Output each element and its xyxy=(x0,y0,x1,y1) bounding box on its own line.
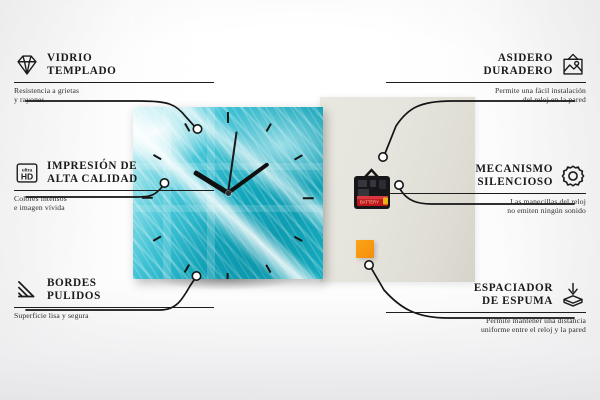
feature-title-line2: SILENCIOSO xyxy=(476,176,554,189)
feature-desc-line2: del reloj en la pared xyxy=(386,95,586,105)
leader-line-asidero xyxy=(384,101,574,156)
feature-desc-line2: e imagen vívida xyxy=(14,203,214,213)
feature-title-line1: MECANISMO xyxy=(476,163,554,176)
feature-rule xyxy=(386,312,586,313)
feature-desc-line1: Permite mantener una distancia xyxy=(386,316,586,326)
feature-desc-line1: Permite una fácil instalación xyxy=(386,86,586,96)
leader-node-espaciador xyxy=(365,261,373,269)
feature-title-line2: PULIDOS xyxy=(47,290,101,303)
feature-rule xyxy=(14,82,214,83)
feature-title-line2: ALTA CALIDAD xyxy=(47,173,138,186)
feature-title-line2: DE ESPUMA xyxy=(474,295,553,308)
feature-bordes-pulidos: BORDES PULIDOS Superficie lisa y segura xyxy=(14,277,214,320)
feature-title-line1: ASIDERO xyxy=(484,52,553,65)
feature-title-line1: IMPRESIÓN DE xyxy=(47,160,138,173)
feature-title-line2: DURADERO xyxy=(484,65,553,78)
gear-icon xyxy=(560,163,586,189)
feature-desc-line1: Las manecillas del reloj xyxy=(386,197,586,207)
leader-node-asidero xyxy=(379,153,387,161)
ultra-hd-icon-label-bottom: HD xyxy=(21,172,33,182)
feature-desc-line2: y rayones xyxy=(14,95,214,105)
hanging-picture-icon xyxy=(560,52,586,78)
feature-desc-line2: no emiten ningún sonido xyxy=(386,206,586,216)
feature-title-line1: BORDES xyxy=(47,277,101,290)
foam-spacer-icon xyxy=(560,282,586,308)
feature-rule xyxy=(14,307,214,308)
feature-title-line2: TEMPLADO xyxy=(47,65,116,78)
feature-rule xyxy=(14,190,214,191)
feature-vidrio-templado: VIDRIO TEMPLADO Resistencia a grietas y … xyxy=(14,52,214,105)
leader-line-vidrio xyxy=(26,101,196,128)
feature-rule xyxy=(386,82,586,83)
polished-edges-icon xyxy=(14,277,40,303)
diamond-icon xyxy=(14,52,40,78)
feature-title-line1: ESPACIADOR xyxy=(474,282,553,295)
feature-impresion-alta-calidad: ultra HD IMPRESIÓN DE ALTA CALIDAD Color… xyxy=(14,160,214,213)
feature-asidero-duradero: ASIDERO DURADERO Permite una fácil insta… xyxy=(386,52,586,105)
feature-rule xyxy=(386,193,586,194)
feature-mecanismo-silencioso: MECANISMO SILENCIOSO Las manecillas del … xyxy=(386,163,586,216)
feature-espaciador-de-espuma: ESPACIADOR DE ESPUMA Permite mantener un… xyxy=(386,282,586,335)
feature-desc-line1: Resistencia a grietas xyxy=(14,86,214,96)
feature-desc-line1: Colores intensos xyxy=(14,194,214,204)
feature-desc-line1: Superficie lisa y segura xyxy=(14,311,214,321)
feature-desc-line2: uniforme entre el reloj y la pared xyxy=(386,325,586,335)
leader-node-vidrio xyxy=(193,125,201,133)
ultra-hd-icon: ultra HD xyxy=(14,160,40,186)
infographic-canvas: BATTERY xyxy=(0,0,600,400)
feature-title-line1: VIDRIO xyxy=(47,52,116,65)
